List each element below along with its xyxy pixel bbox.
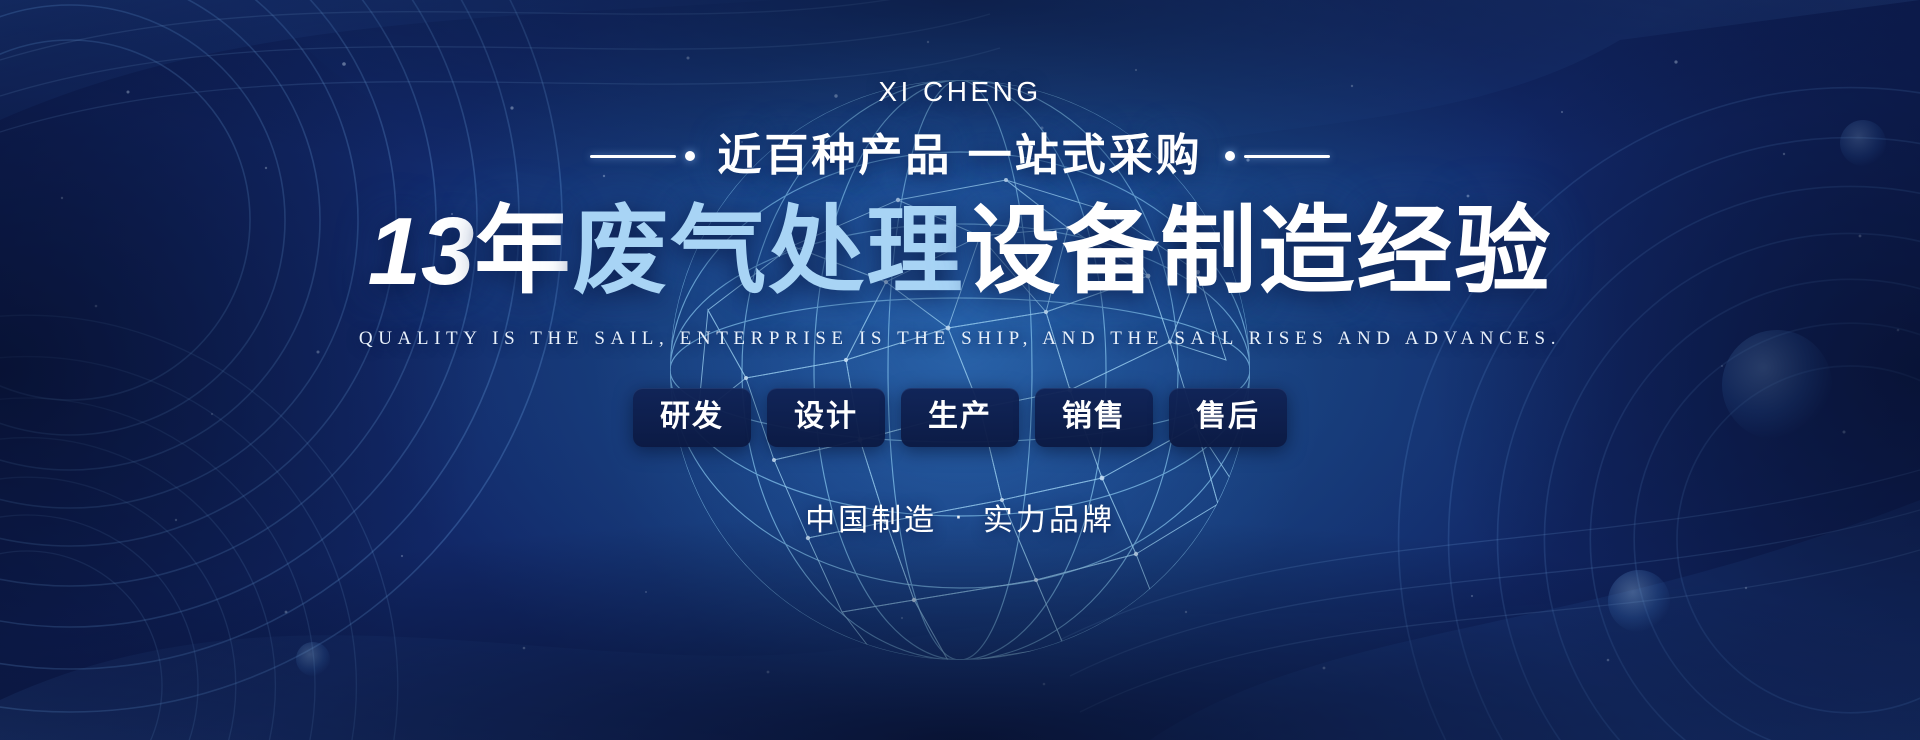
headline-rest: 设备制造经验: [964, 198, 1552, 305]
footer-slogan-left: 中国制造: [805, 495, 937, 539]
service-tag-sales[interactable]: 销售: [1035, 388, 1153, 448]
banner-subtitle: 近百种产品 一站式采购: [717, 134, 1202, 178]
decorative-rule-left-icon: [590, 151, 695, 161]
headline-years-number: 13: [368, 198, 475, 305]
service-tag-rd[interactable]: 研发: [633, 388, 751, 448]
footer-slogan-right: 实力品牌: [983, 495, 1115, 539]
brand-name-english: XI CHENG: [878, 78, 1041, 106]
service-tag-design[interactable]: 设计: [767, 388, 885, 448]
hero-banner: XI CHENG 近百种产品 一站式采购 13年废气处理设备制造经验 QUALI…: [0, 0, 1920, 740]
footer-slogan: 中国制造 · 实力品牌: [805, 495, 1115, 539]
headline-years-unit: 年: [474, 198, 572, 305]
service-tag-aftersales[interactable]: 售后: [1169, 388, 1287, 448]
headline-highlight: 废气处理: [572, 198, 964, 305]
banner-content: XI CHENG 近百种产品 一站式采购 13年废气处理设备制造经验 QUALI…: [0, 0, 1920, 740]
footer-separator-icon: ·: [954, 500, 966, 531]
service-tag-production[interactable]: 生产: [901, 388, 1019, 448]
subtitle-row: 近百种产品 一站式采购: [590, 134, 1329, 178]
decorative-rule-right-icon: [1225, 151, 1330, 161]
banner-headline: 13年废气处理设备制造经验: [368, 200, 1553, 304]
english-tagline: QUALITY IS THE SAIL, ENTERPRISE IS THE S…: [359, 328, 1561, 350]
service-tag-list: 研发 设计 生产 销售 售后: [633, 388, 1287, 448]
